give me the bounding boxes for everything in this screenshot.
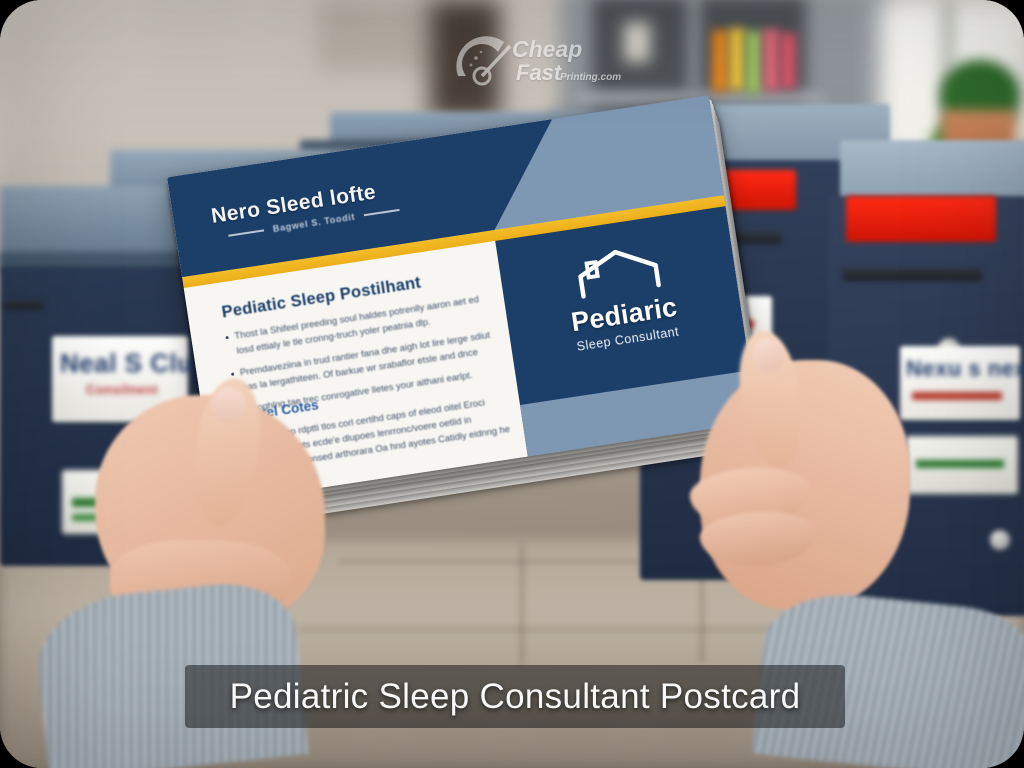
cabinet-handle <box>4 300 44 310</box>
book <box>712 30 728 92</box>
watermark: Cheap Fast Printing.com <box>452 32 620 94</box>
decorative-rule-left <box>228 230 264 237</box>
house-outline-icon <box>571 243 665 302</box>
watermark-line2: Fast <box>516 60 561 86</box>
bullet-dot-icon <box>231 373 234 376</box>
cabinet-knob <box>990 530 1010 550</box>
red-label-strip <box>846 196 996 242</box>
cabinet-handle <box>842 268 982 281</box>
book <box>763 29 779 91</box>
caption-bar: Pediatric Sleep Consultant Postcard <box>185 665 845 728</box>
cabinet-sign-line1: Neal S Clup <box>60 348 210 379</box>
wall-picture-frame <box>318 0 438 72</box>
logo-block: Pediaric Sleep Consultant <box>499 232 744 364</box>
cabinet-label-bar <box>916 460 1004 468</box>
book <box>729 28 745 90</box>
cabinet-sign-line2: Consilnent <box>86 382 158 397</box>
bullet-dot-icon <box>225 336 228 339</box>
decorative-rule-right <box>364 209 400 216</box>
cabinet-sign-text: Nexu s nex <box>906 356 1024 382</box>
book <box>746 31 762 93</box>
cabinet-label-bar <box>912 392 1002 400</box>
caption-text: Pediatric Sleep Consultant Postcard <box>230 677 801 717</box>
book <box>780 33 796 89</box>
watermark-line3: Printing.com <box>560 72 621 83</box>
watermark-line1: Cheap <box>512 36 582 63</box>
shelf-jar <box>624 22 650 62</box>
photo-scene: Neal S Clup Consilnent Nexu s nex Cheap … <box>0 0 1024 768</box>
tile-grout-line <box>520 545 524 665</box>
